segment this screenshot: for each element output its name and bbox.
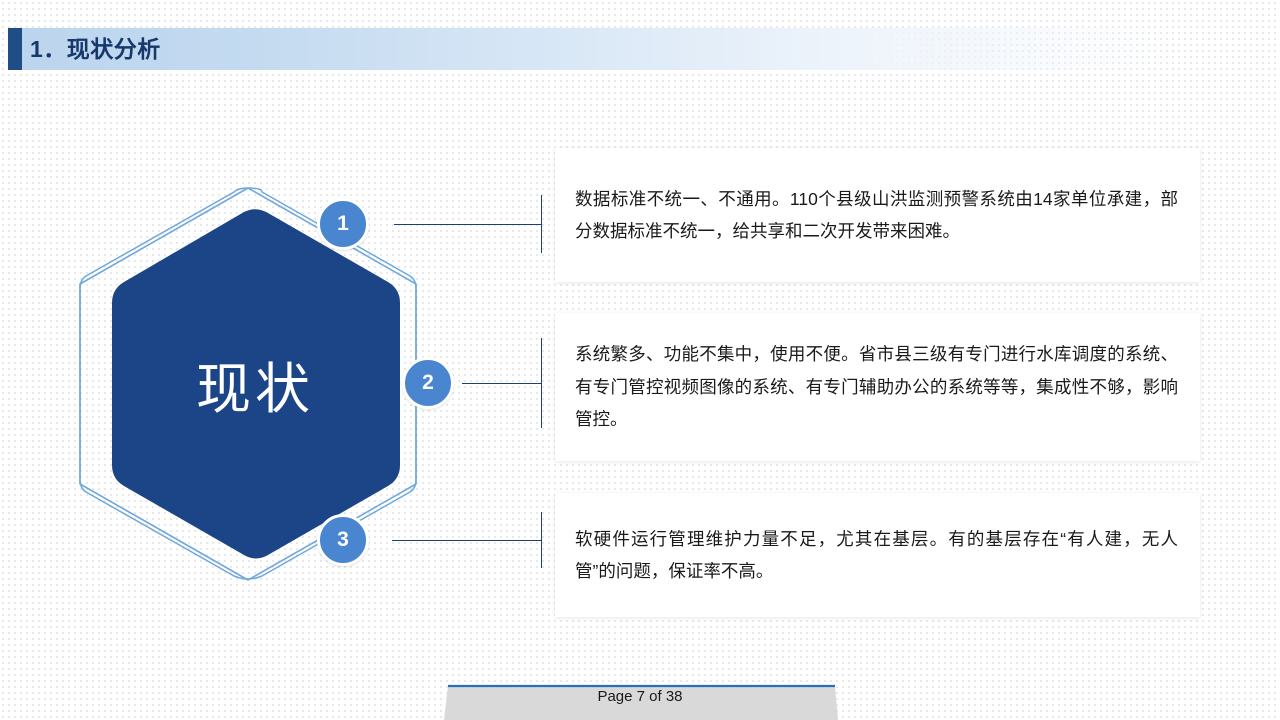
connector-line-1 bbox=[394, 224, 542, 225]
content-box-2[interactable]: 系统繁多、功能不集中，使用不便。省市县三级有专门进行水库调度的系统、有专门管控视… bbox=[555, 313, 1200, 461]
page-number-label: Page 7 of 38 bbox=[0, 688, 1280, 705]
hexagon-fill-shape bbox=[48, 178, 448, 590]
step-circle-2[interactable]: 2 bbox=[402, 357, 454, 409]
hexagon-group: 现状 bbox=[48, 178, 448, 590]
page-title: 1．现状分析 bbox=[30, 28, 161, 70]
step-circle-3-number: 3 bbox=[337, 528, 349, 552]
content-box-3[interactable]: 软硬件运行管理维护力量不足，尤其在基层。有的基层存在“有人建，无人管”的问题，保… bbox=[555, 493, 1200, 617]
header-band bbox=[22, 28, 1280, 70]
connector-stub-3 bbox=[541, 512, 542, 568]
connector-line-2 bbox=[462, 383, 542, 384]
connector-stub-1 bbox=[541, 195, 542, 253]
connector-line-3 bbox=[392, 540, 542, 541]
content-box-1-text: 数据标准不统一、不通用。110个县级山洪监测预警系统由14家单位承建，部分数据标… bbox=[575, 183, 1178, 248]
slide-canvas: 1．现状分析 现状 1 2 3 数据标准不统一、不通用。110个县级山洪监测预警… bbox=[0, 0, 1280, 720]
content-box-1[interactable]: 数据标准不统一、不通用。110个县级山洪监测预警系统由14家单位承建，部分数据标… bbox=[555, 148, 1200, 282]
header-accent-bar bbox=[8, 28, 22, 70]
step-circle-1-number: 1 bbox=[337, 212, 349, 236]
connector-stub-2 bbox=[541, 338, 542, 428]
content-box-2-text: 系统繁多、功能不集中，使用不便。省市县三级有专门进行水库调度的系统、有专门管控视… bbox=[575, 338, 1178, 435]
step-circle-3[interactable]: 3 bbox=[317, 514, 369, 566]
step-circle-1[interactable]: 1 bbox=[317, 198, 369, 250]
content-box-3-text: 软硬件运行管理维护力量不足，尤其在基层。有的基层存在“有人建，无人管”的问题，保… bbox=[575, 523, 1178, 588]
step-circle-2-number: 2 bbox=[422, 371, 434, 395]
